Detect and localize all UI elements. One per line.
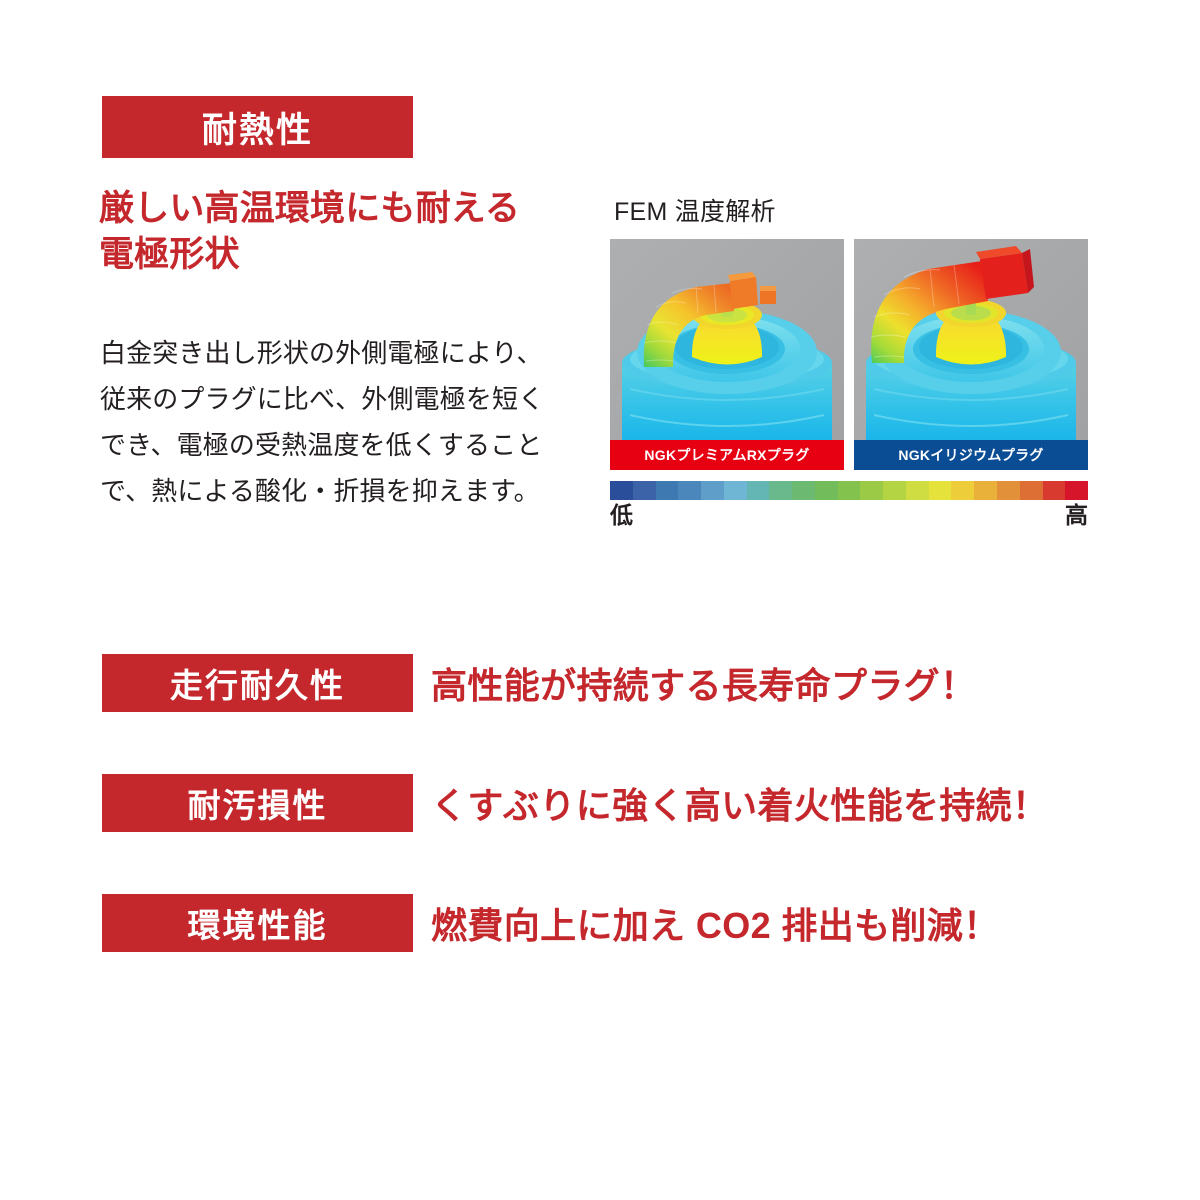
- fem-thermal-image-iridium: [854, 239, 1088, 470]
- colorbar-segment-16: [974, 481, 997, 500]
- feature-chip-fouling-resistance: 耐汚損性: [102, 774, 413, 832]
- colorbar-segment-15: [951, 481, 974, 500]
- colorbar-segment-2: [656, 481, 679, 500]
- colorbar-segment-13: [906, 481, 929, 500]
- legend-label-high: 高: [1065, 502, 1088, 530]
- colorbar-segment-17: [997, 481, 1020, 500]
- colorbar-segment-9: [815, 481, 838, 500]
- fem-analysis-figure: FEM 温度解析: [610, 200, 1088, 470]
- feature-row-environmental-performance: 環境性能 燃費向上に加え CO2 排出も削減！: [102, 894, 1102, 952]
- colorbar-segment-20: [1065, 481, 1088, 500]
- colorbar-segment-5: [724, 481, 747, 500]
- feature-chip-environmental-performance: 環境性能: [102, 894, 413, 952]
- fem-caption-premium-rx: NGKプレミアムRXプラグ: [610, 440, 844, 470]
- legend-label-low: 低: [610, 502, 633, 530]
- colorbar-segment-18: [1020, 481, 1043, 500]
- fem-panel-premium-rx: NGKプレミアムRXプラグ: [610, 239, 844, 470]
- body-copy-line-4: で、熱による酸化・折損を抑えます。: [100, 468, 580, 514]
- colorbar-segment-10: [838, 481, 861, 500]
- lead-heading-line-1: 厳しい高温環境にも耐える: [99, 186, 599, 232]
- temperature-colorbar: [610, 481, 1088, 500]
- colorbar-segment-19: [1043, 481, 1066, 500]
- lead-heading: 厳しい高温環境にも耐える 電極形状: [99, 186, 599, 278]
- colorbar-segment-0: [610, 481, 633, 500]
- temperature-legend-labels: 低 高: [610, 502, 1088, 530]
- colorbar-segment-14: [929, 481, 952, 500]
- colorbar-segment-6: [747, 481, 770, 500]
- colorbar-segment-8: [792, 481, 815, 500]
- section-heading-chip-heat-resistance: 耐熱性: [102, 96, 413, 158]
- feature-text-fouling-resistance: くすぶりに強く高い着火性能を持続！: [431, 777, 1048, 829]
- feature-text-driving-durability: 高性能が持続する長寿命プラグ！: [431, 657, 976, 709]
- colorbar-segment-7: [769, 481, 792, 500]
- fem-caption-iridium: NGKイリジウムプラグ: [854, 440, 1088, 470]
- feature-chip-driving-durability: 走行耐久性: [102, 654, 413, 712]
- body-copy: 白金突き出し形状の外側電極により、 従来のプラグに比べ、外側電極を短く でき、電…: [100, 330, 580, 514]
- colorbar-segment-12: [883, 481, 906, 500]
- colorbar-segment-1: [633, 481, 656, 500]
- feature-text-environmental-performance: 燃費向上に加え CO2 排出も削減！: [431, 897, 1000, 949]
- feature-row-driving-durability: 走行耐久性 高性能が持続する長寿命プラグ！: [102, 654, 1102, 712]
- lead-heading-line-2: 電極形状: [99, 232, 599, 278]
- fem-thermal-image-premium-rx: [610, 239, 844, 470]
- fem-panel-group: NGKプレミアムRXプラグ: [610, 239, 1088, 470]
- body-copy-line-1: 白金突き出し形状の外側電極により、: [100, 330, 580, 376]
- colorbar-segment-4: [701, 481, 724, 500]
- temperature-legend: 低 高: [610, 481, 1088, 530]
- body-copy-line-3: でき、電極の受熱温度を低くすること: [100, 422, 580, 468]
- colorbar-segment-11: [860, 481, 883, 500]
- fem-figure-title: FEM 温度解析: [614, 200, 1088, 225]
- colorbar-segment-3: [678, 481, 701, 500]
- feature-row-fouling-resistance: 耐汚損性 くすぶりに強く高い着火性能を持続！: [102, 774, 1102, 832]
- body-copy-line-2: 従来のプラグに比べ、外側電極を短く: [100, 376, 580, 422]
- fem-panel-iridium: NGKイリジウムプラグ: [854, 239, 1088, 470]
